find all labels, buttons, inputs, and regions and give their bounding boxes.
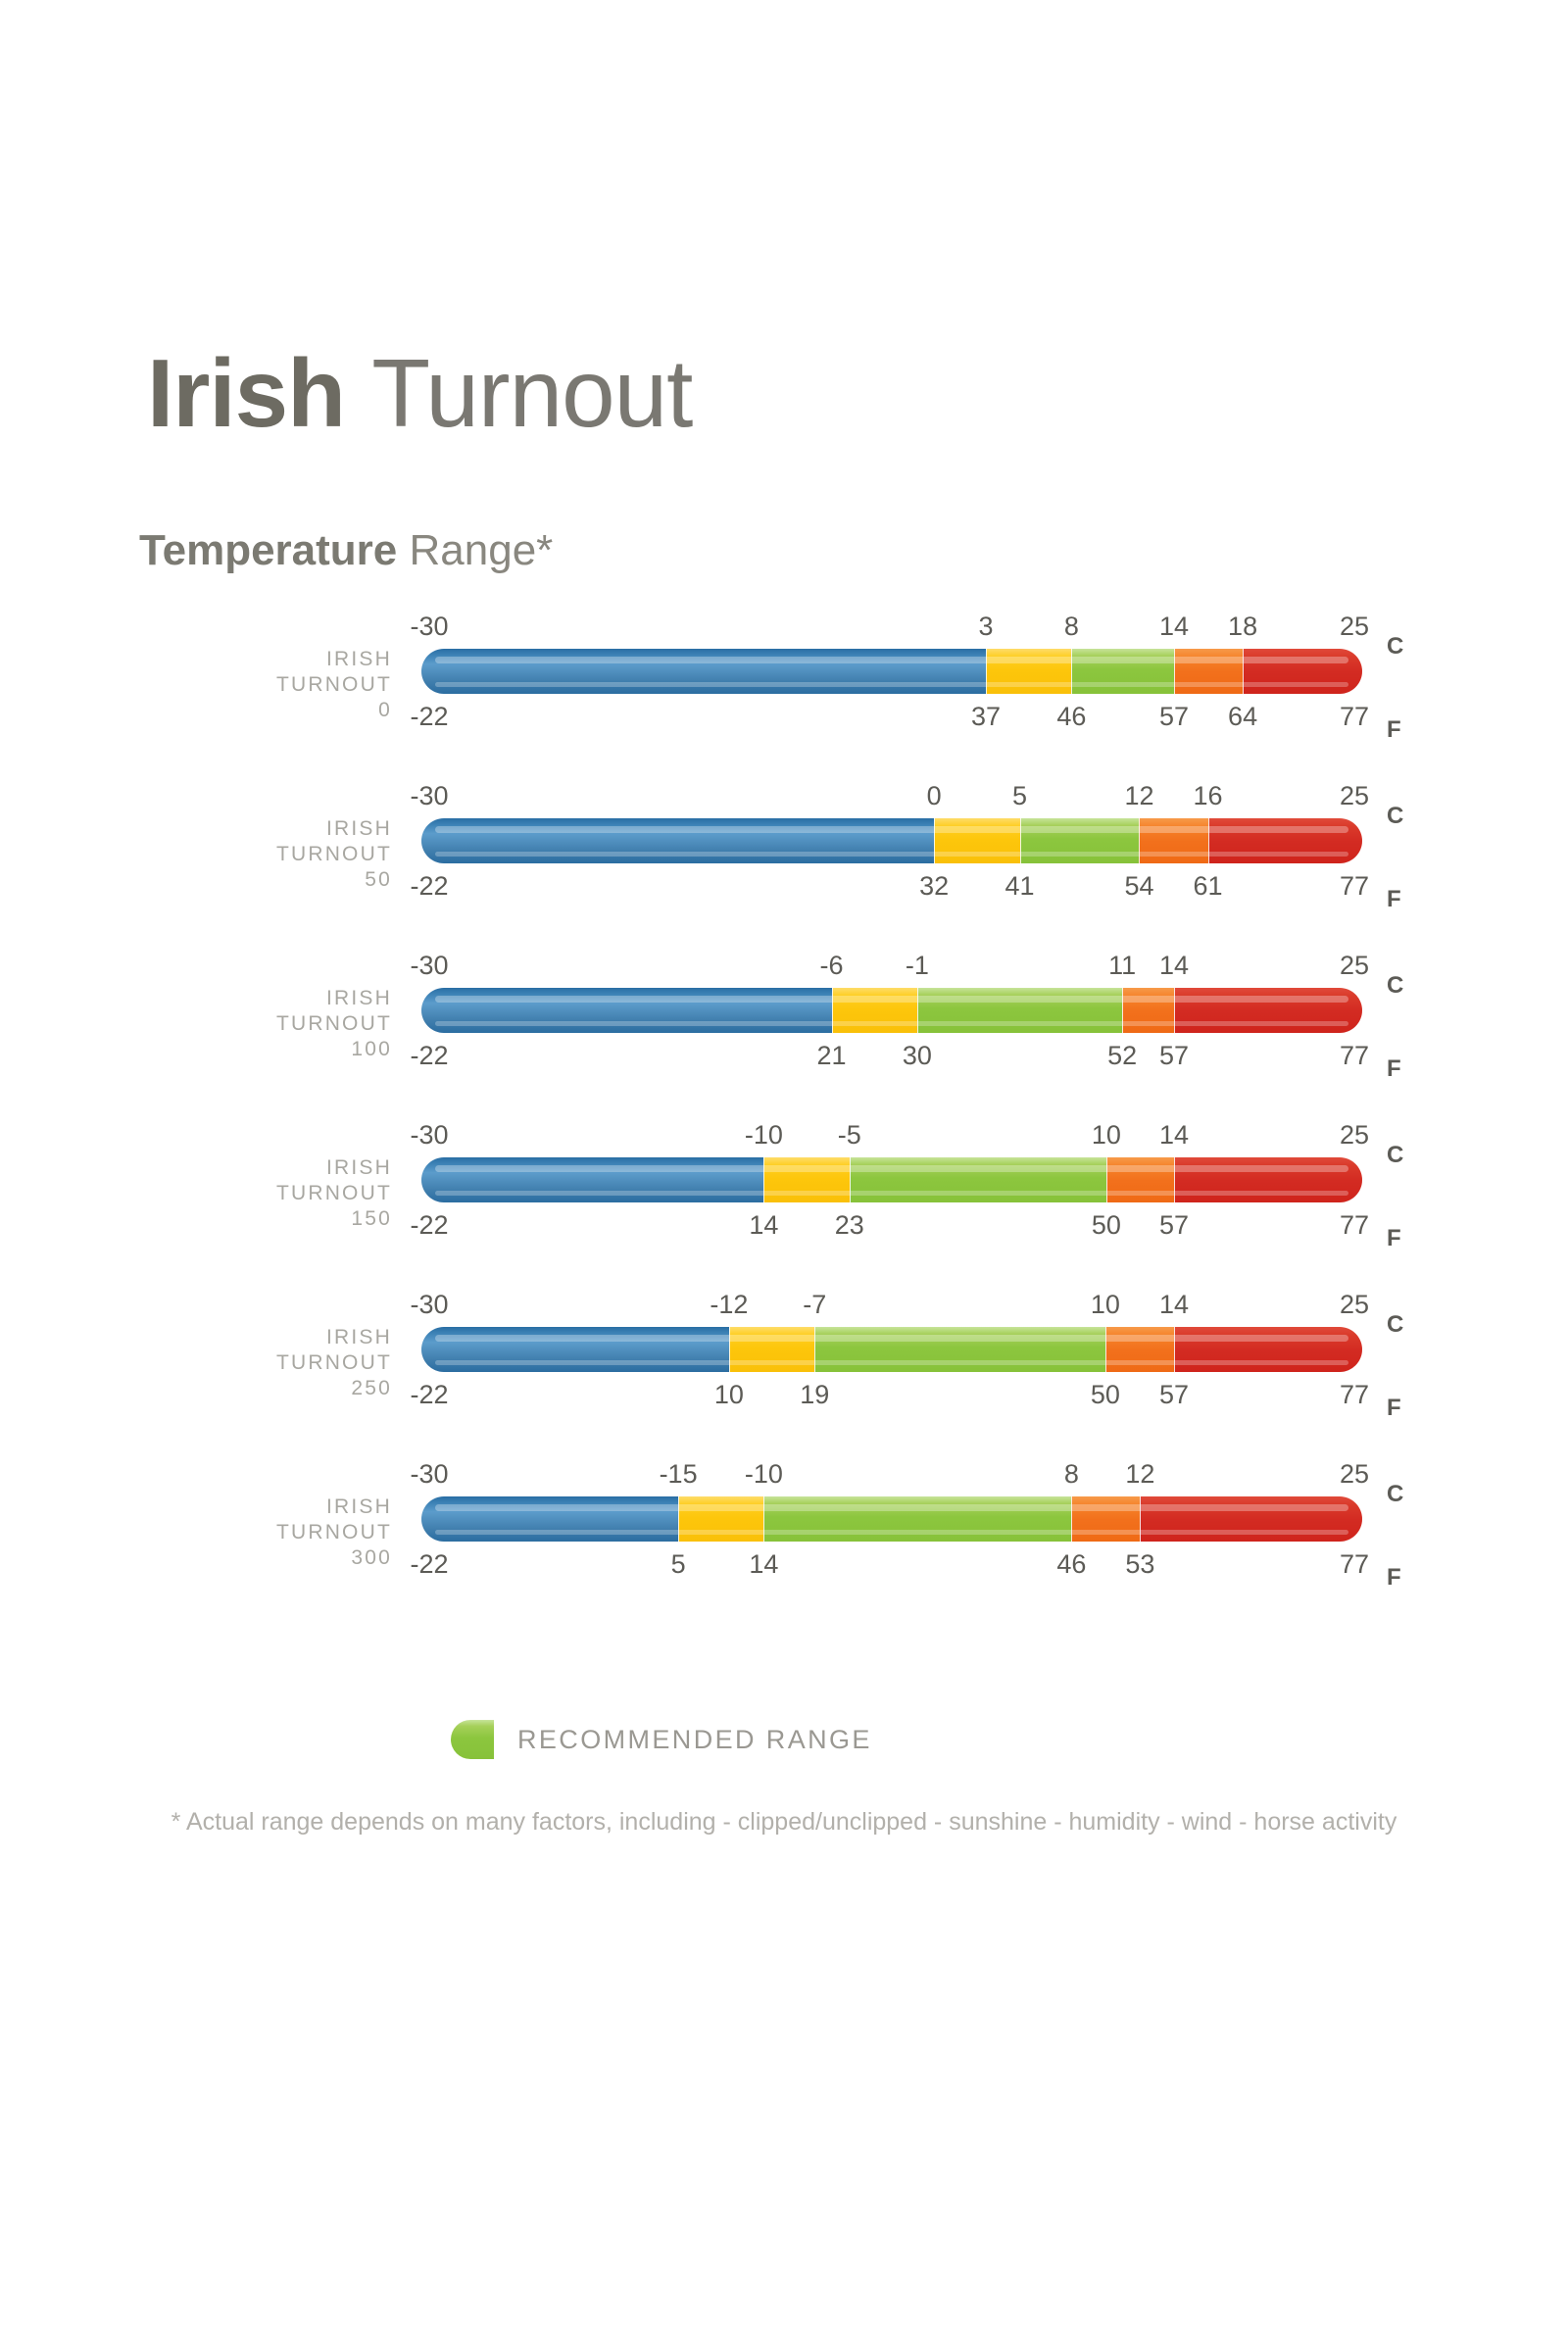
bar-segment-orange (1174, 649, 1243, 694)
temperature-bar (421, 1496, 1362, 1542)
row-label: IRISHTURNOUT300 (176, 1494, 392, 1571)
bar-segment-blue (421, 649, 986, 694)
tick-celsius: 25 (1340, 1290, 1369, 1320)
tick-celsius: -30 (410, 951, 448, 981)
tick-celsius: 25 (1340, 1459, 1369, 1490)
tick-fahrenheit: 77 (1340, 702, 1369, 732)
tick-celsius: 25 (1340, 612, 1369, 642)
row-label-line-2: TURNOUT (176, 1181, 392, 1206)
row-label-line-3: 100 (176, 1037, 392, 1062)
temperature-row: IRISHTURNOUT300-30-15-1081225-2251446537… (0, 1455, 1568, 1625)
row-label: IRISHTURNOUT250 (176, 1325, 392, 1401)
unit-fahrenheit: F (1387, 1395, 1401, 1422)
bar-segment-orange (1106, 1157, 1174, 1202)
bar-segment-yellow (986, 649, 1071, 694)
bar-area: -30-15-1081225-22514465377 (421, 1455, 1362, 1625)
tick-fahrenheit: 46 (1056, 1549, 1086, 1580)
tick-fahrenheit: -22 (410, 1380, 448, 1410)
unit-celsius: C (1387, 1481, 1403, 1508)
tick-fahrenheit: 41 (1005, 871, 1035, 902)
row-label-line-2: TURNOUT (176, 1350, 392, 1376)
bar-segment-blue (421, 818, 934, 863)
bar-segment-yellow (934, 818, 1019, 863)
temperature-bar (421, 818, 1362, 863)
page-title: Irish Turnout (147, 345, 692, 441)
legend-label: RECOMMENDED RANGE (517, 1725, 872, 1755)
tick-fahrenheit: 64 (1228, 702, 1257, 732)
unit-fahrenheit: F (1387, 716, 1401, 744)
tick-celsius: 0 (927, 781, 942, 811)
tick-celsius: 3 (978, 612, 993, 642)
unit-fahrenheit: F (1387, 1055, 1401, 1083)
tick-celsius: -10 (745, 1459, 783, 1490)
tick-celsius: 14 (1159, 1290, 1189, 1320)
tick-fahrenheit: 57 (1159, 1380, 1189, 1410)
tick-celsius: 25 (1340, 951, 1369, 981)
tick-celsius: -7 (803, 1290, 826, 1320)
row-label: IRISHTURNOUT100 (176, 986, 392, 1062)
tick-fahrenheit: 46 (1056, 702, 1086, 732)
tick-fahrenheit: -22 (410, 1210, 448, 1241)
row-label-line-3: 250 (176, 1376, 392, 1401)
tick-fahrenheit: -22 (410, 1041, 448, 1071)
bar-segment-green (814, 1327, 1105, 1372)
bar-segment-red (1174, 1327, 1362, 1372)
row-label-line-1: IRISH (176, 1494, 392, 1520)
tick-celsius: 25 (1340, 781, 1369, 811)
tick-celsius: 25 (1340, 1120, 1369, 1151)
bar-segment-orange (1105, 1327, 1174, 1372)
tick-fahrenheit: 23 (835, 1210, 864, 1241)
bar-area: -30-10-5101425-221423505777 (421, 1116, 1362, 1286)
footnote: * Actual range depends on many factors, … (0, 1808, 1568, 1837)
tick-celsius: 16 (1194, 781, 1223, 811)
temperature-range-rows: IRISHTURNOUT0-3038141825-223746576477CFI… (0, 608, 1568, 1625)
row-label-line-3: 150 (176, 1206, 392, 1232)
row-label-line-2: TURNOUT (176, 672, 392, 698)
bar-segment-orange (1139, 818, 1207, 863)
row-label: IRISHTURNOUT0 (176, 647, 392, 723)
tick-celsius: -6 (820, 951, 844, 981)
bar-segment-red (1174, 1157, 1362, 1202)
tick-celsius: -1 (906, 951, 929, 981)
bar-segment-yellow (763, 1157, 849, 1202)
unit-celsius: C (1387, 972, 1403, 1000)
bar-segment-red (1208, 818, 1362, 863)
row-label-line-1: IRISH (176, 1325, 392, 1350)
unit-fahrenheit: F (1387, 1564, 1401, 1592)
bar-area: -3038141825-223746576477 (421, 608, 1362, 777)
bar-segment-green (1071, 649, 1174, 694)
bar-segment-blue (421, 1157, 763, 1202)
tick-celsius: -12 (710, 1290, 748, 1320)
row-label-line-1: IRISH (176, 986, 392, 1011)
temperature-row: IRISHTURNOUT150-30-10-5101425-2214235057… (0, 1116, 1568, 1286)
bar-segment-yellow (832, 988, 917, 1033)
tick-celsius: -15 (660, 1459, 698, 1490)
tick-fahrenheit: 14 (749, 1549, 778, 1580)
tick-fahrenheit: 77 (1340, 1549, 1369, 1580)
bar-segment-orange (1071, 1496, 1140, 1542)
row-label-line-2: TURNOUT (176, 1520, 392, 1545)
tick-celsius: 8 (1064, 1459, 1079, 1490)
tick-celsius: 10 (1092, 1120, 1121, 1151)
bar-area: -30-6-1111425-222130525777 (421, 947, 1362, 1116)
row-label-line-2: TURNOUT (176, 1011, 392, 1037)
bar-segment-green (763, 1496, 1071, 1542)
row-label-line-3: 300 (176, 1545, 392, 1571)
tick-fahrenheit: 57 (1159, 1210, 1189, 1241)
tick-celsius: 14 (1159, 612, 1189, 642)
bar-segment-green (917, 988, 1122, 1033)
temperature-bar (421, 649, 1362, 694)
row-label: IRISHTURNOUT50 (176, 816, 392, 893)
tick-celsius: -10 (745, 1120, 783, 1151)
row-label-line-2: TURNOUT (176, 842, 392, 867)
tick-fahrenheit: 57 (1159, 702, 1189, 732)
tick-fahrenheit: 61 (1194, 871, 1223, 902)
tick-fahrenheit: -22 (410, 871, 448, 902)
tick-celsius: 12 (1125, 1459, 1154, 1490)
infographic-page: Irish Turnout Temperature Range* IRISHTU… (0, 0, 1568, 2352)
tick-celsius: -5 (838, 1120, 861, 1151)
tick-fahrenheit: 77 (1340, 1210, 1369, 1241)
tick-fahrenheit: 32 (919, 871, 949, 902)
bar-segment-red (1243, 649, 1362, 694)
bar-segment-yellow (678, 1496, 763, 1542)
tick-fahrenheit: 14 (749, 1210, 778, 1241)
page-subtitle: Temperature Range* (139, 529, 553, 572)
temperature-row: IRISHTURNOUT50-3005121625-223241546177CF (0, 777, 1568, 947)
page-subtitle-bold: Temperature (139, 526, 397, 574)
tick-celsius: -30 (410, 612, 448, 642)
bar-segment-blue (421, 988, 832, 1033)
tick-celsius: 12 (1124, 781, 1153, 811)
bar-segment-green (850, 1157, 1106, 1202)
temperature-row: IRISHTURNOUT0-3038141825-223746576477CF (0, 608, 1568, 777)
tick-celsius: 18 (1228, 612, 1257, 642)
temperature-bar (421, 1157, 1362, 1202)
tick-fahrenheit: 50 (1092, 1210, 1121, 1241)
tick-fahrenheit: 10 (714, 1380, 744, 1410)
tick-fahrenheit: 5 (671, 1549, 686, 1580)
tick-celsius: -30 (410, 1120, 448, 1151)
bar-area: -30-12-7101425-221019505777 (421, 1286, 1362, 1455)
tick-celsius: 14 (1159, 1120, 1189, 1151)
tick-celsius: 14 (1159, 951, 1189, 981)
bar-area: -3005121625-223241546177 (421, 777, 1362, 947)
bar-segment-yellow (729, 1327, 814, 1372)
page-title-light: Turnout (371, 339, 692, 447)
legend: RECOMMENDED RANGE (451, 1720, 872, 1759)
tick-celsius: -30 (410, 1290, 448, 1320)
temperature-row: IRISHTURNOUT250-30-12-7101425-2210195057… (0, 1286, 1568, 1455)
unit-fahrenheit: F (1387, 886, 1401, 913)
tick-celsius: -30 (410, 1459, 448, 1490)
recommended-range-swatch (451, 1720, 494, 1759)
temperature-row: IRISHTURNOUT100-30-6-1111425-22213052577… (0, 947, 1568, 1116)
row-label: IRISHTURNOUT150 (176, 1155, 392, 1232)
tick-fahrenheit: 30 (903, 1041, 932, 1071)
row-label-line-1: IRISH (176, 647, 392, 672)
row-label-line-1: IRISH (176, 1155, 392, 1181)
unit-celsius: C (1387, 1142, 1403, 1169)
tick-fahrenheit: 52 (1107, 1041, 1137, 1071)
tick-fahrenheit: -22 (410, 1549, 448, 1580)
row-label-line-1: IRISH (176, 816, 392, 842)
temperature-bar (421, 1327, 1362, 1372)
tick-fahrenheit: 50 (1091, 1380, 1120, 1410)
tick-fahrenheit: 77 (1340, 1380, 1369, 1410)
bar-segment-orange (1122, 988, 1174, 1033)
tick-celsius: 10 (1091, 1290, 1120, 1320)
tick-fahrenheit: 37 (971, 702, 1001, 732)
row-label-line-3: 50 (176, 867, 392, 893)
tick-fahrenheit: 77 (1340, 1041, 1369, 1071)
unit-fahrenheit: F (1387, 1225, 1401, 1252)
tick-fahrenheit: 21 (817, 1041, 847, 1071)
tick-fahrenheit: -22 (410, 702, 448, 732)
bar-segment-red (1140, 1496, 1362, 1542)
tick-fahrenheit: 77 (1340, 871, 1369, 902)
bar-segment-blue (421, 1496, 678, 1542)
unit-celsius: C (1387, 803, 1403, 830)
bar-segment-green (1020, 818, 1140, 863)
tick-celsius: 11 (1108, 951, 1136, 981)
tick-celsius: -30 (410, 781, 448, 811)
tick-fahrenheit: 54 (1124, 871, 1153, 902)
tick-fahrenheit: 57 (1159, 1041, 1189, 1071)
bar-segment-red (1174, 988, 1362, 1033)
tick-fahrenheit: 19 (800, 1380, 829, 1410)
tick-celsius: 5 (1012, 781, 1027, 811)
temperature-bar (421, 988, 1362, 1033)
tick-fahrenheit: 53 (1125, 1549, 1154, 1580)
bar-segment-blue (421, 1327, 729, 1372)
unit-celsius: C (1387, 1311, 1403, 1339)
row-label-line-3: 0 (176, 698, 392, 723)
page-subtitle-light: Range* (410, 526, 554, 574)
unit-celsius: C (1387, 633, 1403, 661)
tick-celsius: 8 (1064, 612, 1079, 642)
page-title-bold: Irish (147, 339, 345, 447)
